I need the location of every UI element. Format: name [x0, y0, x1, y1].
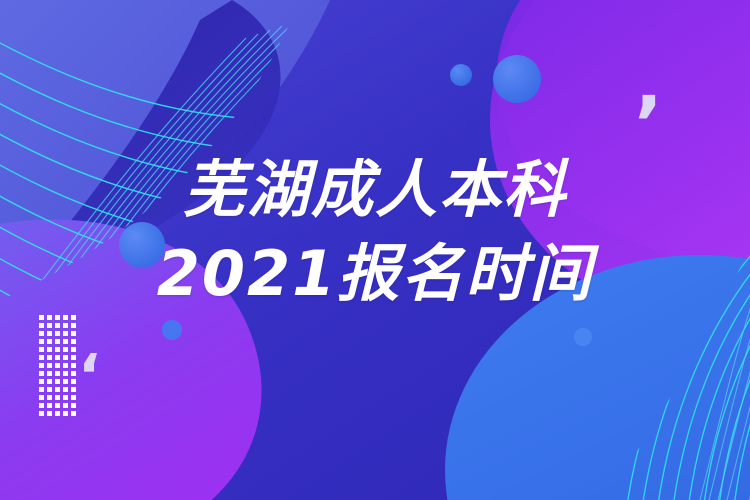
dot-grid-cell [47, 355, 52, 360]
dot-grid-cell [39, 347, 44, 352]
quote-mark-icon-top-right: ’ [634, 86, 663, 162]
promo-banner: 芜湖成人本科 2021报名时间 ’ ’ [0, 0, 750, 500]
dot-grid-cell [39, 363, 44, 368]
dot-grid-cell [39, 315, 44, 320]
dot-grid-cell [39, 387, 44, 392]
dot-grid-cell [55, 331, 60, 336]
dot-grid-cell [39, 331, 44, 336]
dot-circle-left-lower [162, 320, 182, 340]
dot-grid-cell [55, 395, 60, 400]
dot-grid-cell [55, 403, 60, 408]
dot-grid-cell [71, 315, 76, 320]
dot-grid-cell [63, 387, 68, 392]
dot-circle-center-bottom [574, 328, 592, 346]
dot-grid-cell [47, 371, 52, 376]
dot-grid-cell [55, 347, 60, 352]
quote-mark-icon-bottom-left: ’ [78, 318, 101, 378]
dot-grid-cell [47, 363, 52, 368]
dot-grid-cell [47, 379, 52, 384]
dot-grid-cell [55, 371, 60, 376]
dot-grid-cell [39, 395, 44, 400]
dot-grid-cell [39, 411, 44, 416]
dot-grid-cell [39, 355, 44, 360]
dot-grid-cell [47, 411, 52, 416]
dot-grid-cell [63, 371, 68, 376]
dot-grid-cell [71, 347, 76, 352]
dot-grid-cell [47, 331, 52, 336]
dot-grid-cell [39, 323, 44, 328]
dot-grid-cell [71, 387, 76, 392]
dot-grid-cell [39, 403, 44, 408]
dot-grid-cell [71, 339, 76, 344]
dot-grid-cell [47, 387, 52, 392]
dot-grid-cell [47, 347, 52, 352]
dot-grid-cell [47, 395, 52, 400]
dot-grid-cell [47, 323, 52, 328]
dot-grid-cell [39, 379, 44, 384]
dot-grid-decoration [39, 315, 76, 416]
dot-grid-cell [55, 339, 60, 344]
dot-grid-cell [63, 363, 68, 368]
dot-grid-cell [55, 411, 60, 416]
dot-grid-cell [71, 323, 76, 328]
dot-grid-cell [47, 315, 52, 320]
dot-grid-cell [55, 363, 60, 368]
dot-grid-cell [71, 355, 76, 360]
dot-grid-cell [55, 387, 60, 392]
dot-grid-cell [63, 339, 68, 344]
dot-grid-cell [71, 331, 76, 336]
dot-grid-cell [55, 355, 60, 360]
dot-grid-cell [63, 411, 68, 416]
dot-grid-cell [55, 323, 60, 328]
dot-grid-cell [71, 403, 76, 408]
dot-grid-cell [47, 403, 52, 408]
dot-grid-cell [71, 411, 76, 416]
background-artwork [0, 0, 750, 500]
dot-grid-cell [63, 395, 68, 400]
dot-grid-cell [71, 395, 76, 400]
dot-grid-cell [39, 371, 44, 376]
dot-grid-cell [63, 379, 68, 384]
dot-grid-cell [55, 315, 60, 320]
dot-grid-cell [63, 347, 68, 352]
dot-circle-left-mid [119, 222, 165, 268]
dot-grid-cell [63, 315, 68, 320]
dot-grid-cell [71, 363, 76, 368]
dot-grid-cell [63, 403, 68, 408]
dot-grid-cell [47, 339, 52, 344]
dot-grid-cell [63, 331, 68, 336]
dot-grid-cell [71, 371, 76, 376]
dot-circle-small-upper [450, 64, 472, 86]
dot-circle-large-upper [493, 55, 541, 103]
dot-grid-cell [63, 323, 68, 328]
dot-grid-cell [71, 379, 76, 384]
dot-grid-cell [63, 355, 68, 360]
dot-grid-cell [39, 339, 44, 344]
dot-grid-cell [55, 379, 60, 384]
